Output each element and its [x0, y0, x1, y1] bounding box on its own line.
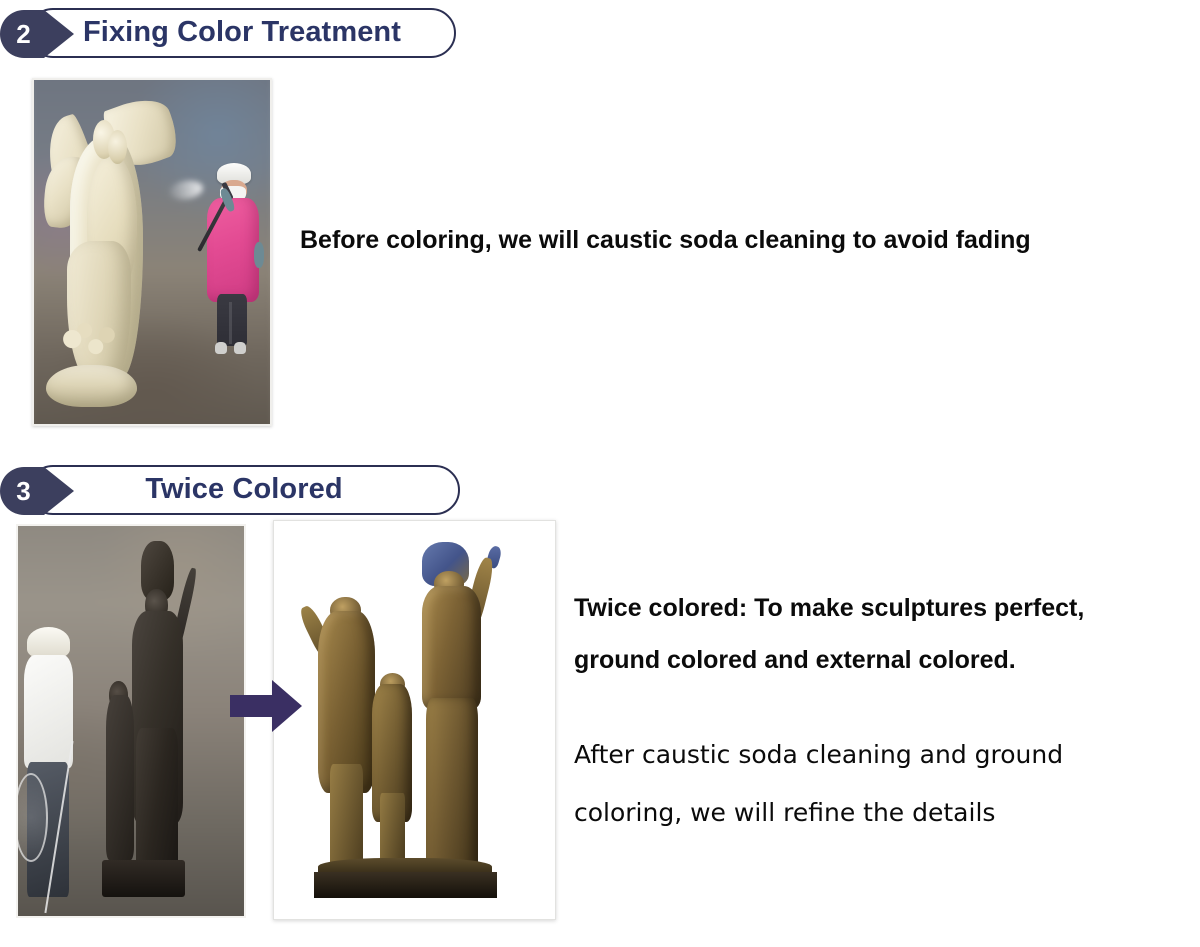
- step-title-label-2: Fixing Color Treatment: [83, 18, 401, 49]
- twice-colored-family-statue: [300, 539, 535, 902]
- step-number-badge-3: 3: [0, 467, 74, 515]
- photo-canvas: [18, 526, 244, 916]
- worker-white-shirt: [24, 655, 73, 767]
- refine-details-paragraph-line-1: After caustic soda cleaning and ground: [574, 742, 1134, 767]
- family-statue-ground-colored-photo: [16, 524, 246, 918]
- step-number-badge-2: 2: [0, 10, 74, 58]
- statue-plinth: [102, 860, 186, 897]
- process-infographic-page: Fixing Color Treatment 2: [0, 0, 1200, 947]
- statue-man-legs: [426, 698, 478, 876]
- process-arrow-icon: [228, 676, 304, 736]
- worker-shoe-left: [215, 342, 227, 354]
- step-header-3: Twice Colored 3: [0, 465, 465, 517]
- worker-bucket-hat: [27, 627, 70, 658]
- step-title-label-3: Twice Colored: [145, 475, 342, 506]
- statue-plinth: [314, 872, 497, 897]
- step-number-3: 3: [0, 467, 47, 515]
- step-number-2: 2: [0, 10, 47, 58]
- step-title-pill-3: Twice Colored: [28, 465, 460, 515]
- worker-leg-gap: [229, 302, 232, 344]
- angel-statue-base: [46, 365, 137, 407]
- angel-statue-caustic-soda-spray-photo: [32, 78, 272, 426]
- angel-companion-head: [108, 130, 127, 164]
- refine-details-paragraph-line-2: coloring, we will refine the details: [574, 800, 1134, 825]
- twice-colored-paragraph-line-1: Twice colored: To make sculptures perfec…: [574, 596, 1134, 621]
- worker-white-hat-figure: [23, 627, 91, 908]
- ground-colored-family-statue: [99, 538, 226, 905]
- angel-statue-figure: [43, 90, 189, 417]
- worker-spraying-figure: [197, 163, 263, 363]
- photo-canvas: [284, 531, 545, 909]
- statue-boy-body: [106, 695, 134, 860]
- family-statue-twice-colored-photo: [273, 520, 556, 920]
- worker-shoe-right: [234, 342, 246, 354]
- photo-canvas: [34, 80, 270, 424]
- statue-man-torso: [422, 586, 481, 709]
- step-header-2: Fixing Color Treatment 2: [0, 8, 460, 60]
- twice-colored-paragraph-line-2: ground colored and external colored.: [574, 648, 1134, 673]
- statue-man-legs: [136, 728, 178, 875]
- step-title-pill-2: Fixing Color Treatment: [28, 8, 456, 58]
- angel-floral-detail: [61, 313, 117, 372]
- worker-glove-left: [254, 242, 265, 268]
- fixing-color-caption: Before coloring, we will caustic soda cl…: [300, 224, 1100, 257]
